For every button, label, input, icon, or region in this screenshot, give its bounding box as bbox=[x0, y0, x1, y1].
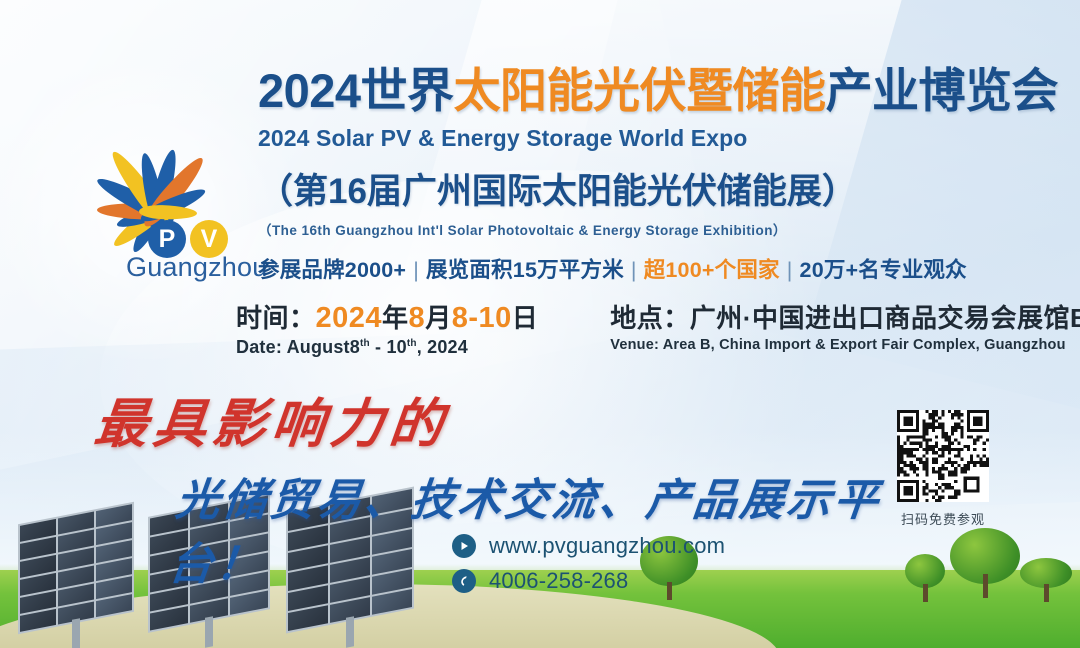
title-part-1: 2024世界 bbox=[258, 64, 454, 117]
tree-icon bbox=[950, 528, 1020, 584]
date-year-unit: 年 bbox=[382, 303, 409, 333]
phone-row[interactable]: 4006-258-268 bbox=[452, 568, 725, 594]
contact-block: www.pvguangzhou.com 4006-258-268 bbox=[452, 533, 725, 603]
phone-text: 4006-258-268 bbox=[489, 568, 628, 594]
venue-english: Venue: Area B, China Import & Export Fai… bbox=[610, 337, 1080, 353]
tree-icon bbox=[1020, 558, 1072, 588]
logo-city-label: Guangzhou bbox=[126, 252, 267, 283]
venue-chinese: 地点：广州·中国进出口商品交易会展馆B区 bbox=[610, 298, 1080, 335]
headline-block: 2024世界太阳能光伏暨储能产业博览会 2024 Solar PV & Ener… bbox=[258, 66, 1058, 284]
stat-item-3: 超100+个国家 bbox=[644, 258, 780, 282]
date-month-unit: 月 bbox=[425, 303, 452, 333]
expo-poster: P V Guangzhou 2024世界太阳能光伏暨储能产业博览会 2024 S… bbox=[0, 0, 1080, 648]
slogan-line-1-wrap: 最具影响力的 bbox=[95, 382, 885, 458]
subtitle-english: （The 16th Guangzhou Int'l Solar Photovol… bbox=[258, 219, 1058, 239]
stat-item-2: 展览面积15万平方米 bbox=[426, 258, 624, 282]
date-day-unit: 日 bbox=[512, 303, 539, 333]
panel-post bbox=[346, 616, 354, 648]
panel-post bbox=[72, 618, 80, 648]
date-d1-suffix: th bbox=[360, 338, 370, 349]
website-text: www.pvguangzhou.com bbox=[489, 533, 725, 559]
date-column: 时间：2024年8月8-10日 Date: August8th - 10th, … bbox=[236, 298, 538, 358]
date-english: Date: August8th - 10th, 2024 bbox=[236, 337, 538, 358]
qr-block[interactable]: 扫码免费参观 bbox=[897, 410, 989, 528]
date-chinese: 时间：2024年8月8-10日 bbox=[236, 298, 538, 335]
subtitle-chinese: （第16届广州国际太阳能光伏储能展） bbox=[258, 163, 1058, 214]
title-part-2: 太阳能光伏暨储能 bbox=[454, 64, 826, 117]
title-part-3: 产业博览会 bbox=[826, 64, 1059, 117]
date-label-en: Date: bbox=[236, 337, 282, 357]
date-month-en: August bbox=[287, 337, 350, 357]
qr-code[interactable] bbox=[897, 410, 989, 502]
date-year-en: , 2024 bbox=[417, 337, 468, 357]
date-dash: - bbox=[375, 337, 381, 357]
website-row[interactable]: www.pvguangzhou.com bbox=[452, 533, 725, 559]
phone-circle-icon bbox=[452, 569, 476, 593]
pv-guangzhou-logo: P V Guangzhou bbox=[62, 100, 272, 300]
stat-item-1: 参展品牌2000+ bbox=[258, 258, 406, 282]
date-d1: 8 bbox=[350, 337, 360, 357]
date-year-num: 2024 bbox=[316, 302, 383, 334]
stat-separator: | bbox=[413, 258, 419, 282]
date-label-cn: 时间： bbox=[236, 303, 316, 333]
title-chinese: 2024世界太阳能光伏暨储能产业博览会 bbox=[258, 66, 1058, 116]
stat-separator: | bbox=[631, 258, 637, 282]
venue-value-cn: 广州·中国进出口商品交易会展馆B区 bbox=[690, 303, 1080, 333]
stats-row: 参展品牌2000+|展览面积15万平方米|超100+个国家|20万+名专业观众 bbox=[258, 253, 1058, 284]
date-d2-suffix: th bbox=[407, 338, 417, 349]
title-english: 2024 Solar PV & Energy Storage World Exp… bbox=[258, 125, 1058, 152]
qr-caption: 扫码免费参观 bbox=[897, 509, 989, 528]
venue-column: 地点：广州·中国进出口商品交易会展馆B区 Venue: Area B, Chin… bbox=[610, 298, 1080, 353]
venue-label-cn: 地点： bbox=[610, 303, 690, 333]
stat-separator: | bbox=[787, 258, 793, 282]
date-day-range: 8-10 bbox=[452, 302, 512, 334]
play-circle-icon bbox=[452, 534, 476, 558]
date-month-num: 8 bbox=[409, 302, 426, 334]
panel-post bbox=[205, 616, 213, 648]
stat-item-4: 20万+名专业观众 bbox=[800, 258, 967, 282]
slogan-line-1: 最具影响力的 bbox=[91, 382, 453, 458]
date-d2: 10 bbox=[386, 337, 406, 357]
date-venue-block: 时间：2024年8月8-10日 Date: August8th - 10th, … bbox=[236, 298, 1080, 358]
tree-icon bbox=[905, 554, 945, 588]
